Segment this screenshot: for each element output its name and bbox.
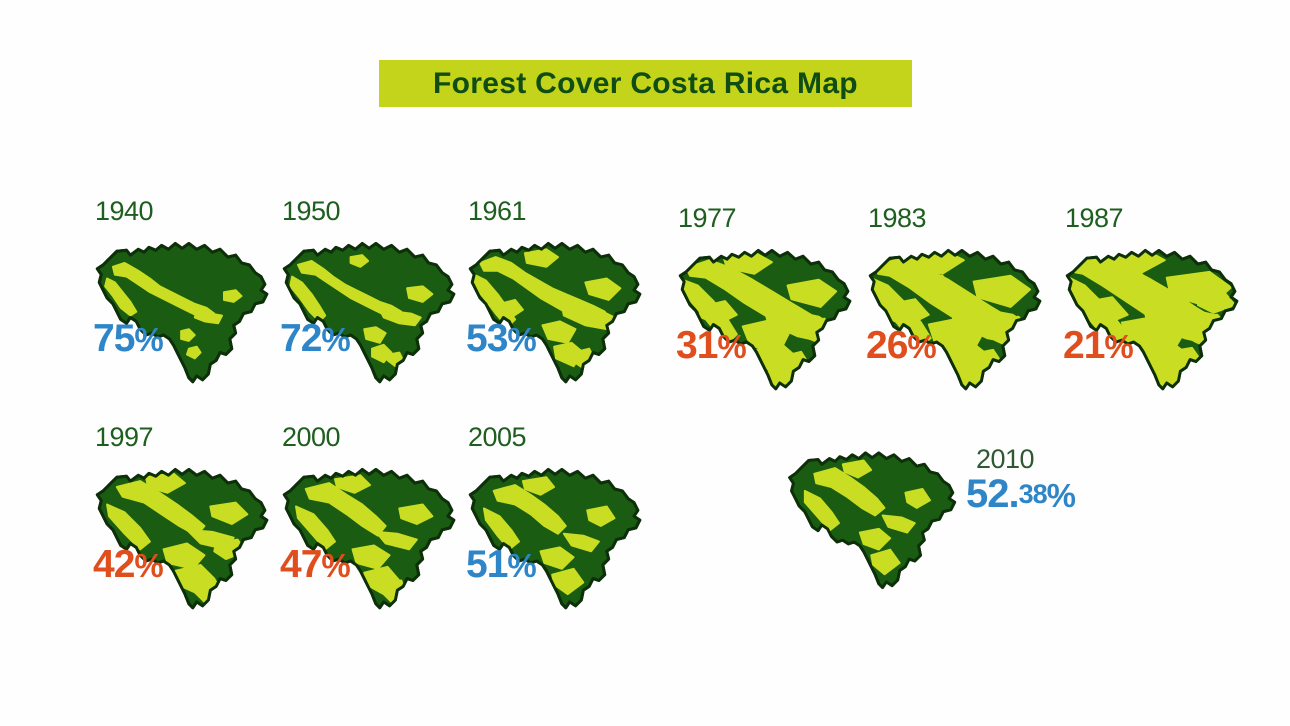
map-panel-1997: 199742% <box>85 422 285 637</box>
map-panel-1977: 197731% <box>668 203 868 418</box>
percent-label-1961: 53% <box>466 317 536 361</box>
percent-label-1977: 31% <box>676 324 746 368</box>
page-title: Forest Cover Costa Rica Map <box>433 67 858 101</box>
map-panel-1983: 198326% <box>858 203 1058 418</box>
percent-value-1950: 72 <box>280 317 321 360</box>
percent-label-2000: 47% <box>280 543 350 587</box>
percent-label-1983: 26% <box>866 324 936 368</box>
percent-label-2005: 51% <box>466 543 536 587</box>
percent-sign-1950: % <box>321 321 349 358</box>
percent-value-1961: 53 <box>466 317 507 360</box>
costa-rica-map-2010 <box>780 432 970 617</box>
percent-sign-1961: % <box>507 321 535 358</box>
percent-label-1997: 42% <box>93 543 163 587</box>
percent-value-1977: 31 <box>676 324 717 367</box>
percent-label-2010: 52.38% <box>966 472 1146 517</box>
year-label-1940: 1940 <box>95 196 153 227</box>
percent-fraction-2010: 38 <box>1019 479 1047 509</box>
title-banner: Forest Cover Costa Rica Map <box>379 60 912 107</box>
percent-label-1940: 75% <box>93 317 163 361</box>
year-label-1997: 1997 <box>95 422 153 453</box>
map-panel-2005: 200551% <box>458 422 658 637</box>
year-label-2000: 2000 <box>282 422 340 453</box>
percent-value-1987: 21 <box>1063 324 1104 367</box>
map-panel-2000: 200047% <box>272 422 472 637</box>
percent-sign-1983: % <box>907 328 935 365</box>
percent-label-1950: 72% <box>280 317 350 361</box>
year-label-1983: 1983 <box>868 203 926 234</box>
percent-sign-1987: % <box>1104 328 1132 365</box>
year-label-1950: 1950 <box>282 196 340 227</box>
percent-sign-2010: % <box>1047 477 1075 514</box>
year-label-2010: 2010 <box>976 444 1146 475</box>
map-panel-1987: 198721% <box>1055 203 1255 418</box>
year-label-2005: 2005 <box>468 422 526 453</box>
percent-value-2000: 47 <box>280 543 321 586</box>
percent-sign-1997: % <box>134 547 162 584</box>
year-label-1961: 1961 <box>468 196 526 227</box>
label-block-2010: 2010 52.38% <box>966 444 1146 517</box>
percent-label-1987: 21% <box>1063 324 1133 368</box>
map-panel-2010: 2010 52.38% <box>780 432 1140 622</box>
percent-value-1940: 75 <box>93 317 134 360</box>
year-label-1977: 1977 <box>678 203 736 234</box>
map-panel-1940: 194075% <box>85 196 285 411</box>
percent-sign-2000: % <box>321 547 349 584</box>
percent-sign-1977: % <box>717 328 745 365</box>
year-label-1987: 1987 <box>1065 203 1123 234</box>
percent-value-1983: 26 <box>866 324 907 367</box>
map-panel-1950: 195072% <box>272 196 472 411</box>
percent-value-2005: 51 <box>466 543 507 586</box>
map-panel-1961: 196153% <box>458 196 658 411</box>
percent-value-1997: 42 <box>93 543 134 586</box>
percent-whole-2010: 52. <box>966 472 1019 516</box>
percent-sign-1940: % <box>134 321 162 358</box>
percent-sign-2005: % <box>507 547 535 584</box>
